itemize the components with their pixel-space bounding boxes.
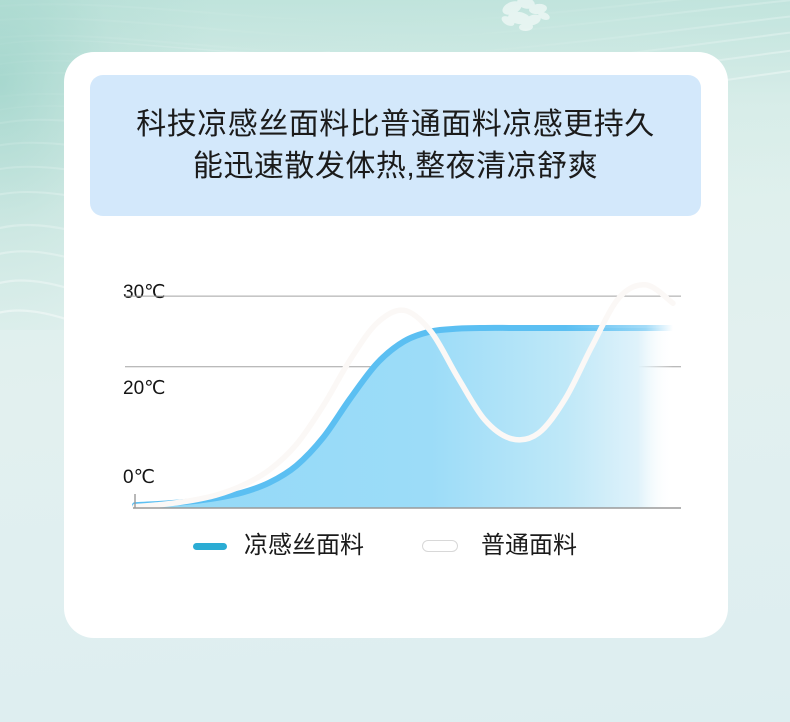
headline-line-2: 能迅速散发体热,整夜清凉舒爽 bbox=[193, 146, 598, 188]
headline-line-1: 科技凉感丝面料比普通面料凉感更持久 bbox=[136, 104, 655, 146]
normal-line-swatch-icon bbox=[422, 540, 458, 552]
cool-fabric-area bbox=[135, 328, 673, 508]
chart-legend: 凉感丝面料 普通面料 bbox=[85, 528, 685, 564]
cool-line-swatch-icon bbox=[193, 543, 227, 550]
headline-banner: 科技凉感丝面料比普通面料凉感更持久 能迅速散发体热,整夜清凉舒爽 bbox=[90, 75, 701, 216]
legend-item-cool: 凉感丝面料 bbox=[193, 533, 364, 559]
legend-item-normal: 普通面料 bbox=[422, 533, 577, 559]
floral-decoration-icon bbox=[486, 0, 572, 48]
chart-plot-area bbox=[85, 234, 685, 524]
temperature-chart bbox=[85, 234, 685, 524]
promo-page: 科技凉感丝面料比普通面料凉感更持久 能迅速散发体热,整夜清凉舒爽 30℃ 20℃… bbox=[0, 0, 790, 722]
legend-label-normal: 普通面料 bbox=[481, 533, 577, 559]
legend-label-cool: 凉感丝面料 bbox=[244, 533, 364, 559]
